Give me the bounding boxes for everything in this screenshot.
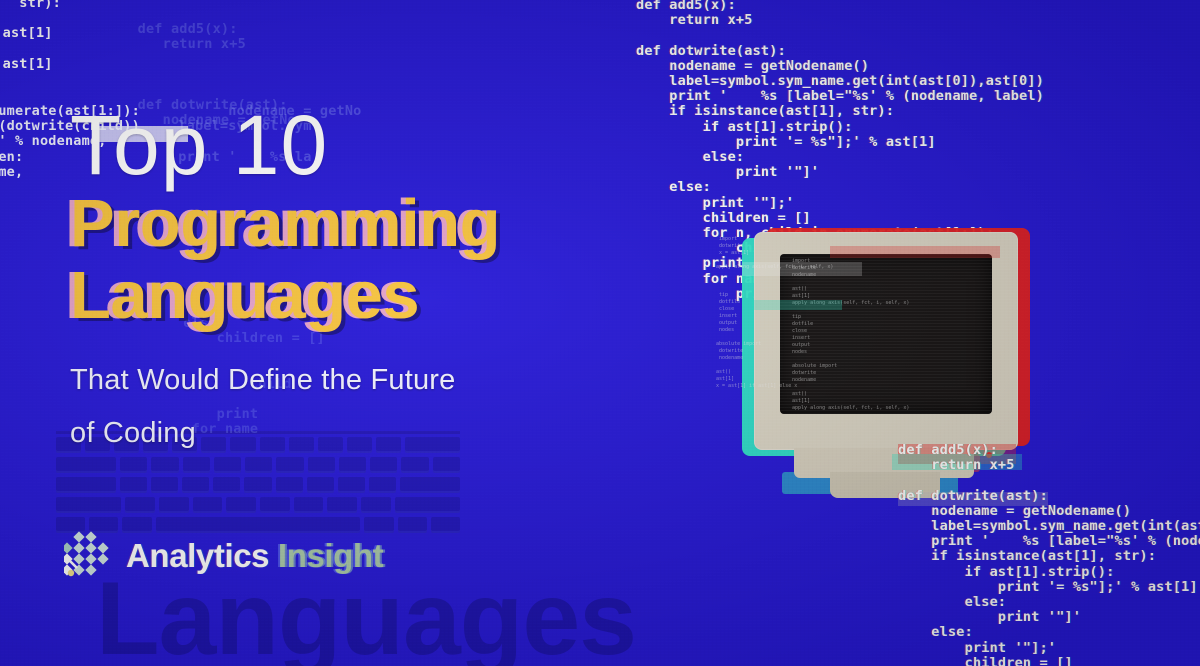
keyboard-key xyxy=(120,477,147,493)
analytics-insight-logo[interactable]: Analytics Insight xyxy=(64,531,383,581)
page-subtitle-line-2: of Coding xyxy=(70,407,590,460)
keyboard-key xyxy=(276,477,303,493)
keyboard-key xyxy=(307,477,334,493)
keyboard-key xyxy=(159,497,189,513)
keyboard-key xyxy=(369,477,396,493)
diamond-grid-icon xyxy=(64,531,112,581)
logo-wordmark: Analytics Insight xyxy=(126,537,383,575)
code-block-bottom-right: def add5(x): return x+5 def dotwrite(ast… xyxy=(898,443,1200,666)
page-title-line-2: Languages xyxy=(70,260,590,332)
keyboard-key xyxy=(56,497,121,513)
logo-word-analytics: Analytics xyxy=(126,537,269,574)
page-title-top: Top 10 xyxy=(70,104,590,186)
keyboard-key xyxy=(294,497,324,513)
page-subtitle-line-1: That Would Define the Future xyxy=(70,354,590,407)
code-fragment-top-left: str): % ast[1] % ast[1] xyxy=(0,0,61,72)
keyboard-key xyxy=(395,497,460,513)
keyboard-key xyxy=(398,517,427,533)
keyboard-key xyxy=(226,497,256,513)
monitor-outer-code: import dotwrite x = ast[1] apply along a… xyxy=(710,236,833,390)
keyboard-key xyxy=(125,497,155,513)
keyboard-key xyxy=(361,497,391,513)
article-banner: def add5(x): return x+5 def dotwrite(ast… xyxy=(0,0,1200,666)
keyboard-key xyxy=(193,497,223,513)
keyboard-key xyxy=(244,477,271,493)
keyboard-key xyxy=(327,497,357,513)
page-title-line-1: Programming xyxy=(70,188,590,260)
logo-word-insight: Insight xyxy=(278,537,383,574)
keyboard-key xyxy=(56,477,116,493)
keyboard-key xyxy=(400,477,460,493)
keyboard-row xyxy=(56,497,460,513)
keyboard-key xyxy=(151,477,178,493)
page-subtitle: That Would Define the Future of Coding xyxy=(70,354,590,460)
keyboard-key xyxy=(260,497,290,513)
keyboard-key xyxy=(431,517,460,533)
keyboard-row xyxy=(56,477,460,493)
keyboard-key xyxy=(182,477,209,493)
headline-group: Top 10 Programming Languages That Would … xyxy=(70,104,590,460)
keyboard-key xyxy=(213,477,240,493)
keyboard-key xyxy=(338,477,365,493)
